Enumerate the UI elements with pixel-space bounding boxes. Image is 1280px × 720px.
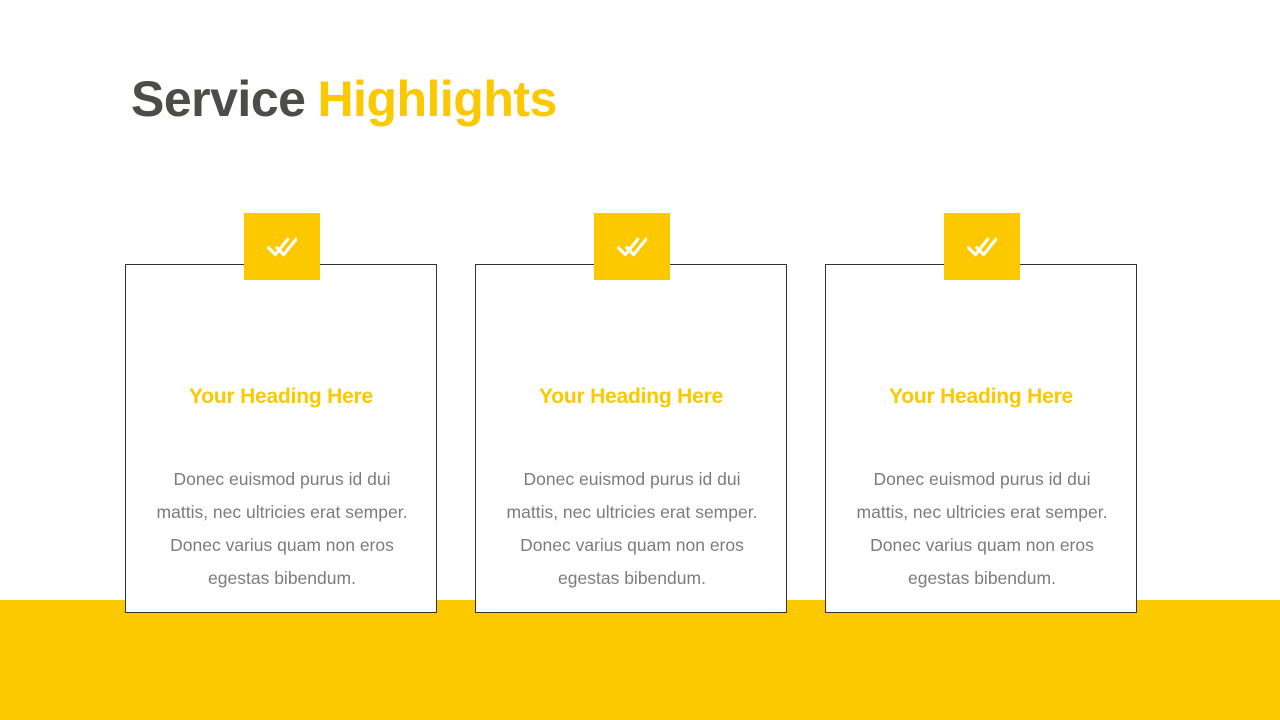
double-check-icon [267,236,297,258]
service-card-heading: Your Heading Here [476,385,786,409]
service-card[interactable]: Your Heading Here Donec euismod purus id… [825,213,1139,615]
service-card-panel[interactable]: Your Heading Here Donec euismod purus id… [475,264,787,613]
double-check-icon [967,236,997,258]
page-title-main: Service [131,71,305,127]
service-card-icon-badge [594,213,670,280]
slide-canvas: ServiceHighlights Your Heading Here Done… [0,0,1280,720]
service-card-body: Donec euismod purus id dui mattis, nec u… [850,463,1114,595]
service-card[interactable]: Your Heading Here Donec euismod purus id… [475,213,789,615]
service-card-icon-badge [944,213,1020,280]
service-card-panel[interactable]: Your Heading Here Donec euismod purus id… [825,264,1137,613]
service-card-heading: Your Heading Here [826,385,1136,409]
service-card-body: Donec euismod purus id dui mattis, nec u… [150,463,414,595]
page-title: ServiceHighlights [131,72,557,127]
service-card-panel[interactable]: Your Heading Here Donec euismod purus id… [125,264,437,613]
page-title-accent: Highlights [317,71,556,127]
service-card[interactable]: Your Heading Here Donec euismod purus id… [125,213,439,615]
service-card-heading: Your Heading Here [126,385,436,409]
service-card-list: Your Heading Here Donec euismod purus id… [125,213,1139,615]
service-card-icon-badge [244,213,320,280]
service-card-body: Donec euismod purus id dui mattis, nec u… [500,463,764,595]
double-check-icon [617,236,647,258]
bottom-accent-band [0,600,1280,720]
